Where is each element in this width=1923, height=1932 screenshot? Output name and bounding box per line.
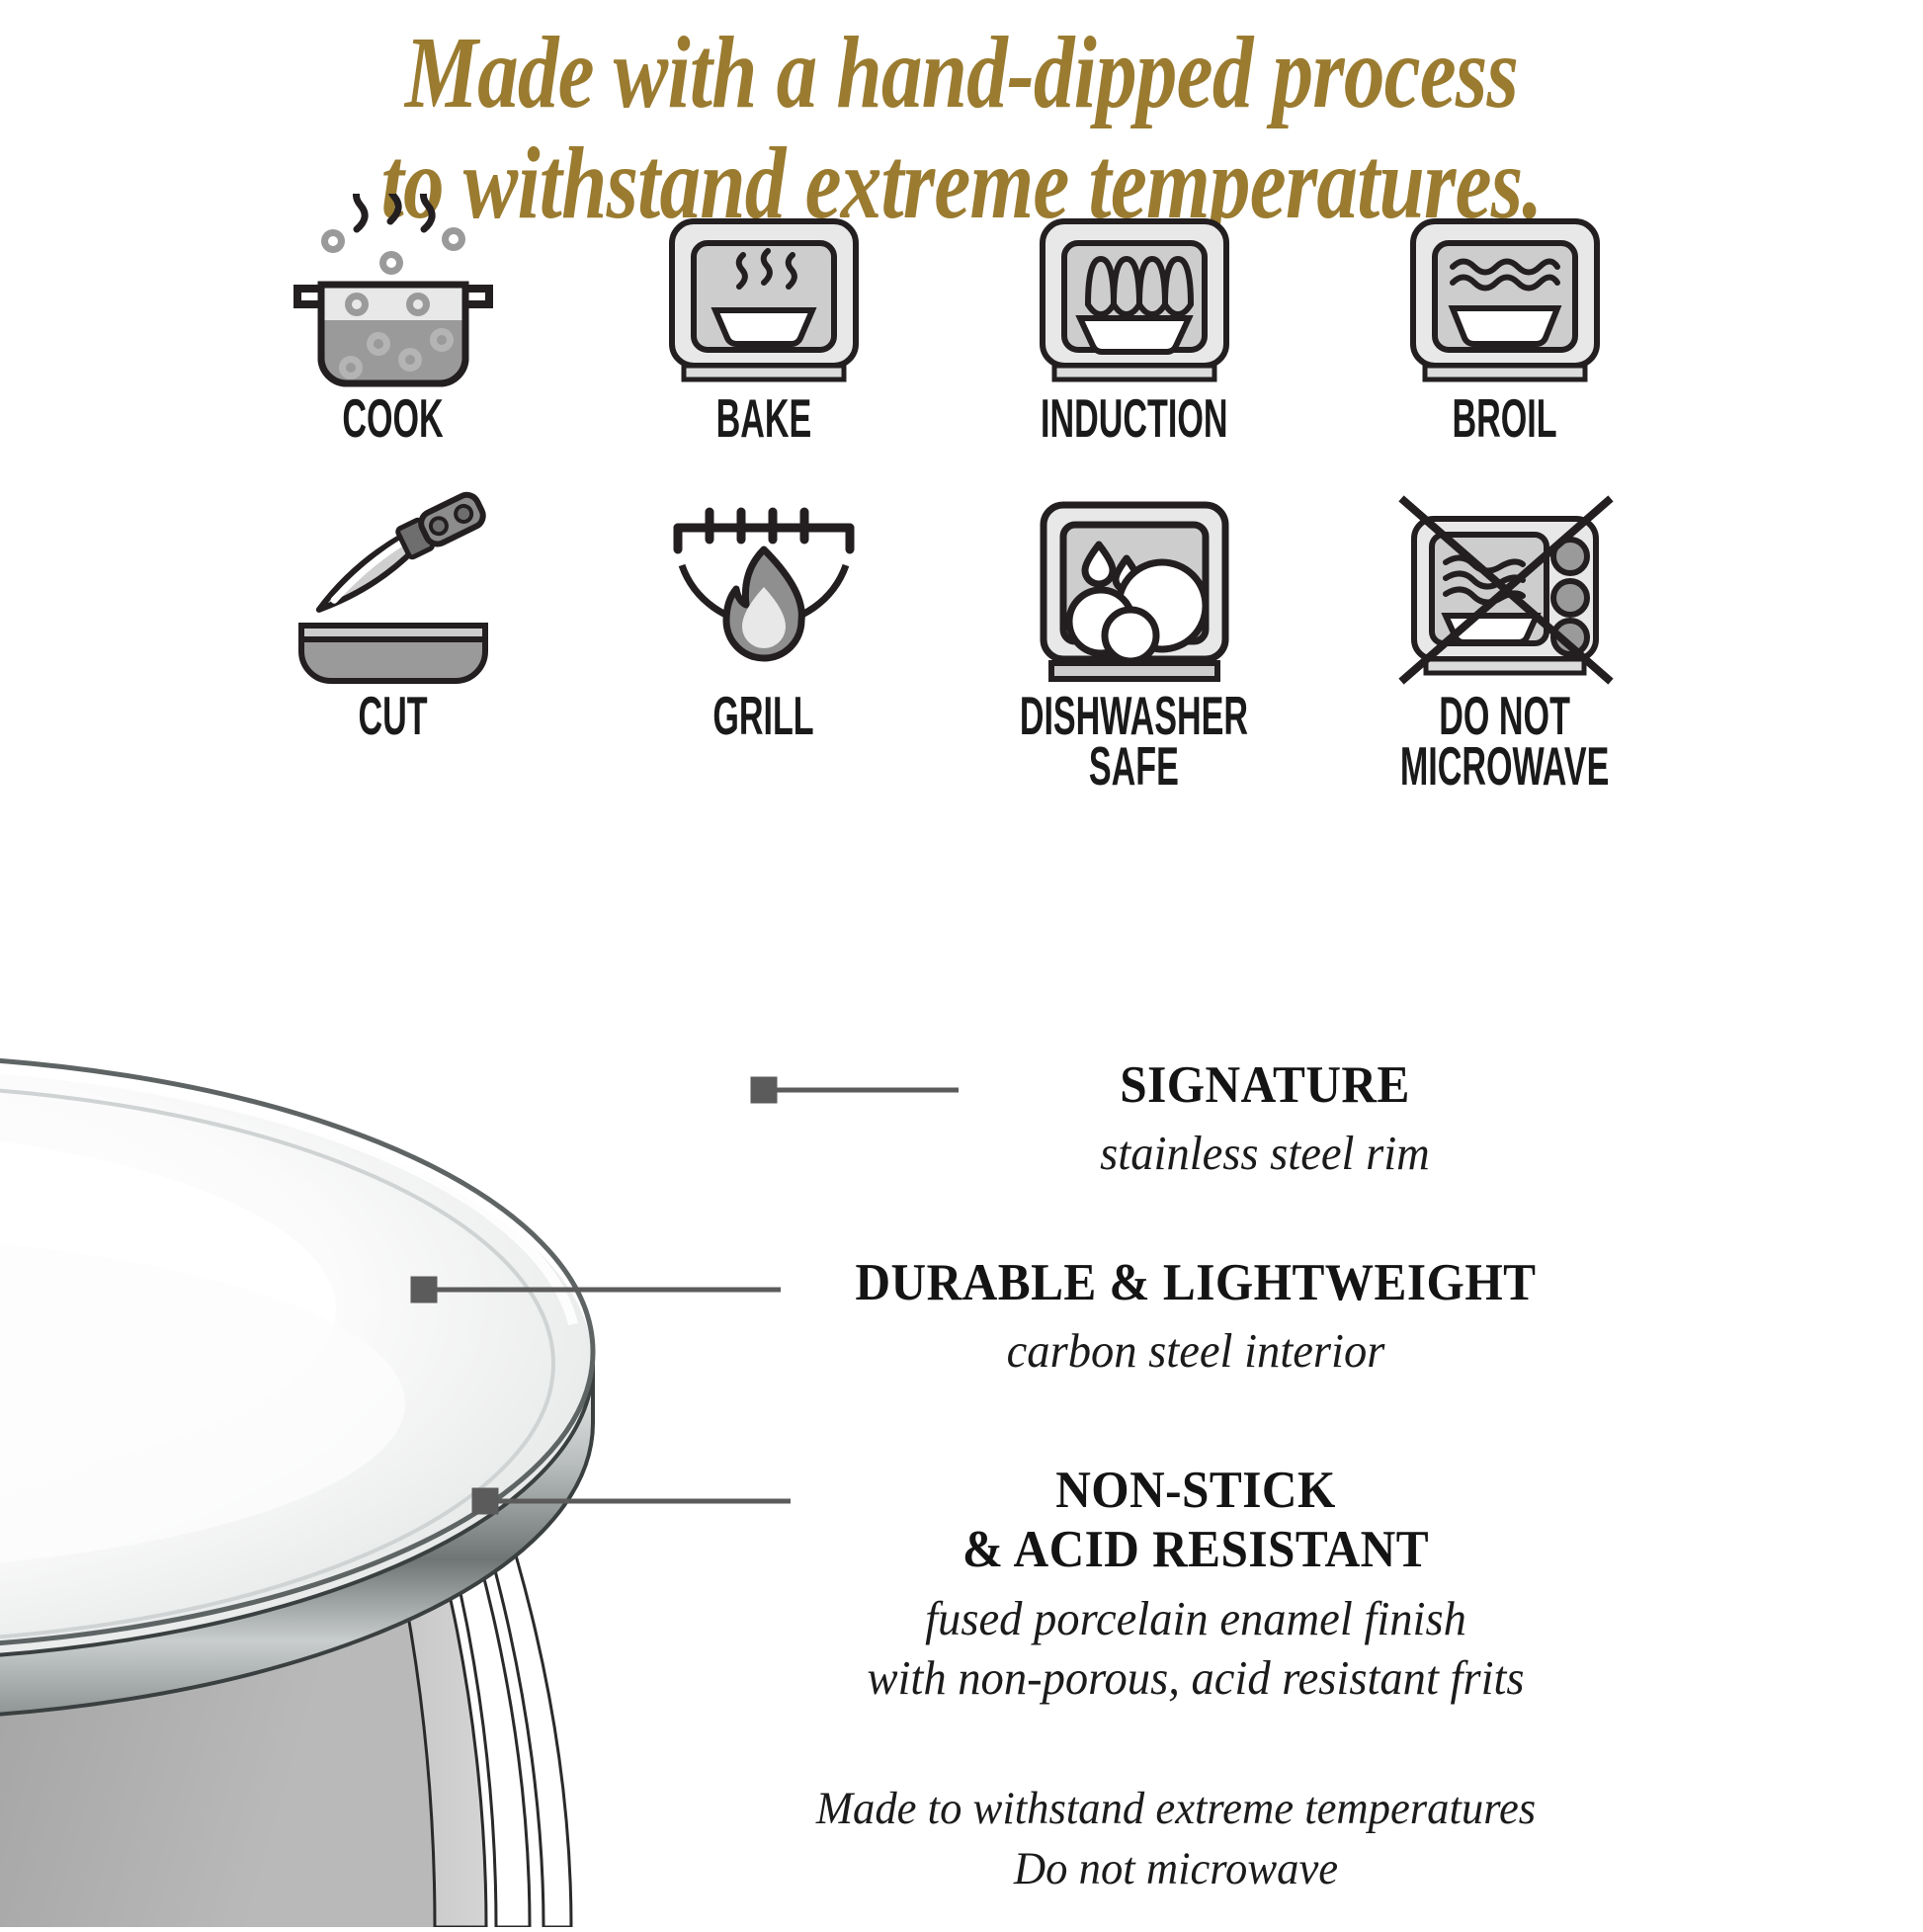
callout-durable-title: DURABLE & LIGHTWEIGHT [783,1253,1610,1312]
footnote-text: Made to withstand extreme temperatures D… [623,1779,1730,1899]
callout-nonstick-subtitle: fused porcelain enamel finish with non-p… [774,1589,1619,1708]
infographic-page: Made with a hand-dipped process to withs… [0,0,1923,1923]
callout-signature: SIGNATURE stainless steel rim [889,1055,1640,1183]
callout-nonstick: NON-STICK & ACID RESISTANT fused porcela… [751,1461,1640,1707]
callout-durable: DURABLE & LIGHTWEIGHT carbon steel inter… [751,1253,1640,1381]
callout-durable-subtitle: carbon steel interior [774,1321,1619,1381]
callout-nonstick-title-2: & ACID RESISTANT [783,1520,1610,1579]
callout-signature-title: SIGNATURE [916,1055,1615,1115]
callout-signature-subtitle: stainless steel rim [908,1124,1622,1183]
callout-nonstick-title-1: NON-STICK [783,1461,1610,1520]
